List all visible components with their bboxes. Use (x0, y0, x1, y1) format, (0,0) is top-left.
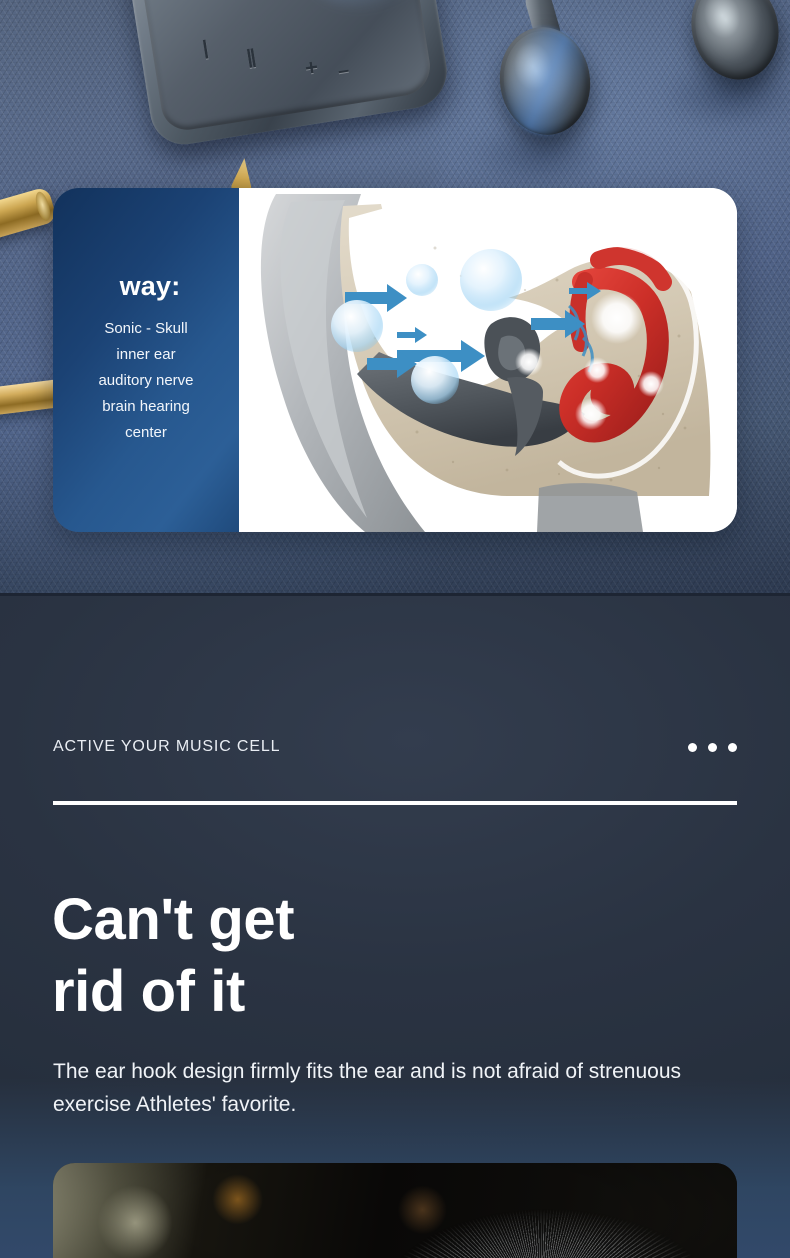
lifestyle-photo-vignette (53, 1163, 737, 1258)
headline-line: rid of it (52, 956, 752, 1028)
gold-pen-cap-ring (33, 190, 53, 222)
pagination-dots[interactable] (688, 743, 737, 752)
feature-card-heading: way: (120, 271, 181, 302)
feature-card-line: center (125, 422, 167, 443)
pagination-dot[interactable] (728, 743, 737, 752)
body-paragraph: The ear hook design firmly fits the ear … (53, 1055, 753, 1121)
eyebrow-label: ACTIVE YOUR MUSIC CELL (53, 738, 280, 756)
sound-path-feature-card: way: Sonic - Skull inner ear auditory ne… (53, 188, 737, 532)
eyebrow-row: ACTIVE YOUR MUSIC CELL (53, 738, 737, 756)
section-divider-hairline (0, 593, 790, 596)
product-feature-page: | || + – way: Sonic - Skull inner ear au… (0, 0, 790, 1258)
pagination-dot[interactable] (708, 743, 717, 752)
feature-card-line: brain hearing (102, 396, 190, 417)
ear-anatomy-diagram (239, 188, 737, 532)
ear-anatomy-svg (239, 188, 737, 532)
horizontal-rule (53, 801, 737, 805)
hero-product-photo: | || + – way: Sonic - Skull inner ear au… (0, 0, 790, 593)
feature-card-line: Sonic - Skull (104, 318, 187, 339)
page-headline: Can't get rid of it (52, 884, 752, 1028)
feature-card-text-pane: way: Sonic - Skull inner ear auditory ne… (53, 188, 239, 532)
feature-card-line: auditory nerve (98, 370, 193, 391)
feature-card-line: inner ear (116, 344, 175, 365)
headline-line: Can't get (52, 884, 752, 956)
pagination-dot[interactable] (688, 743, 697, 752)
lifestyle-photo (53, 1163, 737, 1258)
feature-card-line-list: Sonic - Skull inner ear auditory nerve b… (98, 318, 193, 443)
